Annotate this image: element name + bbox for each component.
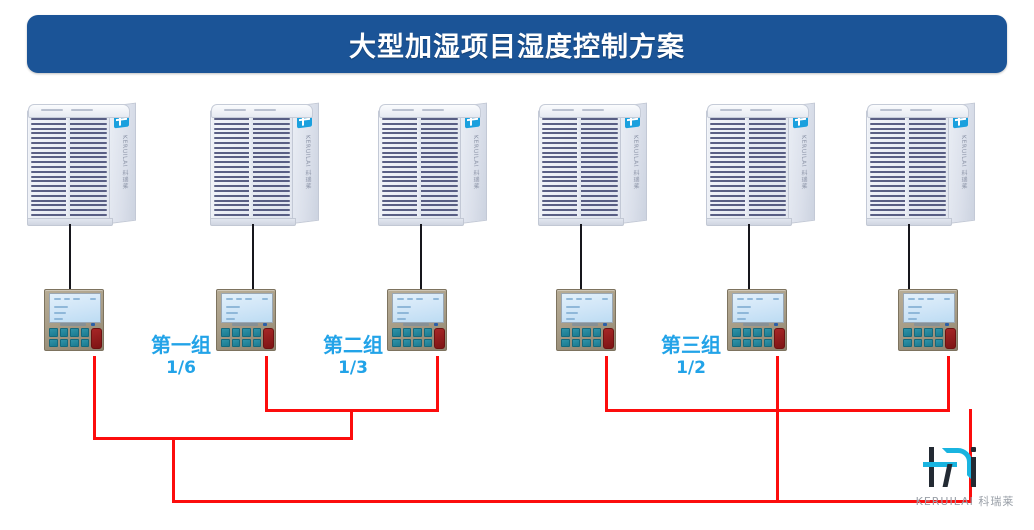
controller-key[interactable] xyxy=(242,339,251,348)
controller-key[interactable] xyxy=(753,339,762,348)
controller-lcd xyxy=(732,293,784,323)
controller-key[interactable] xyxy=(413,339,422,348)
unit-side-label: KERUILAI 科瑞莱 xyxy=(115,135,129,207)
power-button[interactable] xyxy=(603,328,614,349)
unit-link-cable xyxy=(69,224,71,289)
unit-link-cable xyxy=(252,224,254,289)
controller-key[interactable] xyxy=(924,328,933,337)
controller-key[interactable] xyxy=(914,339,923,348)
controller-key[interactable] xyxy=(764,339,773,348)
controller-key[interactable] xyxy=(593,328,602,337)
bus-drop-3 xyxy=(436,356,439,412)
group-label-1: 第一组 1/6 xyxy=(140,334,222,378)
controller-keypad[interactable] xyxy=(732,328,772,347)
unit-side-label: KERUILAI 科瑞莱 xyxy=(298,135,312,207)
power-button[interactable] xyxy=(263,328,274,349)
power-led-icon xyxy=(434,323,438,326)
controller-key[interactable] xyxy=(221,328,230,337)
group-name: 第二组 xyxy=(312,334,394,358)
controller-key[interactable] xyxy=(743,339,752,348)
controller-lcd xyxy=(903,293,955,323)
unit-top-cap xyxy=(707,104,809,118)
diagram-canvas: 大型加湿项目湿度控制方案 KERUILAI 科瑞莱KERUILAI 科瑞莱KER… xyxy=(0,0,1034,530)
power-led-icon xyxy=(774,323,778,326)
controller-lcd xyxy=(49,293,101,323)
bus-trunk-mid xyxy=(93,437,353,440)
unit-side-label: KERUILAI 科瑞莱 xyxy=(794,135,808,207)
unit-top-cap xyxy=(539,104,641,118)
unit-side-panel: KERUILAI 科瑞莱 xyxy=(292,103,319,224)
controller-key[interactable] xyxy=(935,328,944,337)
controller-key[interactable] xyxy=(242,328,251,337)
unit-link-cable xyxy=(748,224,750,289)
group-ratio: 1/6 xyxy=(140,358,222,378)
controller-key[interactable] xyxy=(221,339,230,348)
controller-key[interactable] xyxy=(924,339,933,348)
unit-top-cap xyxy=(379,104,481,118)
controller-brand-strip xyxy=(743,323,769,326)
controller-brand-strip xyxy=(914,323,940,326)
bus-drop-5 xyxy=(776,356,779,503)
power-led-icon xyxy=(91,323,95,326)
controller-key[interactable] xyxy=(253,339,262,348)
bus-trunk-bottom xyxy=(172,500,972,503)
unit-link-cable xyxy=(580,224,582,289)
unit-side-panel: KERUILAI 科瑞莱 xyxy=(620,103,647,224)
power-led-icon xyxy=(263,323,267,326)
controller-brand-strip xyxy=(572,323,598,326)
unit-side-panel: KERUILAI 科瑞莱 xyxy=(109,103,136,224)
humidity-controller[interactable] xyxy=(727,289,787,351)
controller-lcd xyxy=(561,293,613,323)
controller-key[interactable] xyxy=(424,339,433,348)
humidity-controller[interactable] xyxy=(556,289,616,351)
humidity-controller[interactable] xyxy=(44,289,104,351)
controller-key[interactable] xyxy=(572,339,581,348)
bus-riser-group2 xyxy=(350,409,353,440)
controller-key[interactable] xyxy=(935,339,944,348)
power-button[interactable] xyxy=(434,328,445,349)
power-button[interactable] xyxy=(774,328,785,349)
group-label-3: 第三组 1/2 xyxy=(650,334,732,378)
cooler-unit: KERUILAI 科瑞莱 xyxy=(706,104,814,228)
controller-lcd xyxy=(221,293,273,323)
cooler-unit: KERUILAI 科瑞莱 xyxy=(866,104,974,228)
controller-key[interactable] xyxy=(49,328,58,337)
controller-key[interactable] xyxy=(582,328,591,337)
humidity-controller[interactable] xyxy=(387,289,447,351)
controller-keypad[interactable] xyxy=(903,328,943,347)
power-button[interactable] xyxy=(91,328,102,349)
controller-keypad[interactable] xyxy=(221,328,261,347)
group-ratio: 1/3 xyxy=(312,358,394,378)
unit-side-panel: KERUILAI 科瑞莱 xyxy=(460,103,487,224)
cooler-unit: KERUILAI 科瑞莱 xyxy=(210,104,318,228)
group-name: 第三组 xyxy=(650,334,732,358)
unit-side-panel: KERUILAI 科瑞莱 xyxy=(788,103,815,224)
group-ratio: 1/2 xyxy=(650,358,732,378)
unit-side-label: KERUILAI 科瑞莱 xyxy=(466,135,480,207)
unit-side-label: KERUILAI 科瑞莱 xyxy=(626,135,640,207)
page-title: 大型加湿项目湿度控制方案 xyxy=(349,25,685,64)
bus-drop-4 xyxy=(605,356,608,412)
controller-key[interactable] xyxy=(81,339,90,348)
controller-key[interactable] xyxy=(743,328,752,337)
brand-logo: KERUILAI 科瑞莱 xyxy=(905,445,1025,515)
humidity-controller[interactable] xyxy=(898,289,958,351)
power-button[interactable] xyxy=(945,328,956,349)
controller-key[interactable] xyxy=(70,339,79,348)
controller-key[interactable] xyxy=(572,328,581,337)
unit-side-label: KERUILAI 科瑞莱 xyxy=(954,135,968,207)
bus-header-group3 xyxy=(605,409,950,412)
controller-key[interactable] xyxy=(903,339,912,348)
controller-brand-strip xyxy=(403,323,429,326)
controller-key[interactable] xyxy=(403,328,412,337)
controller-key[interactable] xyxy=(561,339,570,348)
controller-key[interactable] xyxy=(914,328,923,337)
bus-drop-2 xyxy=(265,356,268,412)
bus-drop-1 xyxy=(93,356,96,440)
controller-key[interactable] xyxy=(593,339,602,348)
controller-lcd xyxy=(392,293,444,323)
controller-key[interactable] xyxy=(732,339,741,348)
controller-keypad[interactable] xyxy=(49,328,89,347)
controller-key[interactable] xyxy=(413,328,422,337)
controller-key[interactable] xyxy=(732,328,741,337)
controller-key[interactable] xyxy=(232,339,241,348)
unit-top-cap xyxy=(867,104,969,118)
unit-link-cable xyxy=(420,224,422,289)
power-led-icon xyxy=(945,323,949,326)
group-label-2: 第二组 1/3 xyxy=(312,334,394,378)
controller-key[interactable] xyxy=(49,339,58,348)
ki-logomark-icon xyxy=(923,445,1009,489)
power-led-icon xyxy=(603,323,607,326)
controller-key[interactable] xyxy=(424,328,433,337)
brand-wordmark: KERUILAI 科瑞莱 xyxy=(905,493,1025,509)
unit-top-cap xyxy=(28,104,130,118)
controller-key[interactable] xyxy=(403,339,412,348)
controller-key[interactable] xyxy=(582,339,591,348)
controller-key[interactable] xyxy=(60,328,69,337)
group-name: 第一组 xyxy=(140,334,222,358)
controller-key[interactable] xyxy=(70,328,79,337)
cooler-unit: KERUILAI 科瑞莱 xyxy=(538,104,646,228)
controller-brand-strip xyxy=(232,323,258,326)
controller-key[interactable] xyxy=(903,328,912,337)
cooler-unit: KERUILAI 科瑞莱 xyxy=(378,104,486,228)
controller-keypad[interactable] xyxy=(392,328,432,347)
controller-key[interactable] xyxy=(232,328,241,337)
controller-brand-strip xyxy=(60,323,86,326)
bus-trunk-riser xyxy=(172,437,175,503)
controller-key[interactable] xyxy=(764,328,773,337)
controller-keypad[interactable] xyxy=(561,328,601,347)
controller-key[interactable] xyxy=(753,328,762,337)
controller-key[interactable] xyxy=(253,328,262,337)
unit-side-panel: KERUILAI 科瑞莱 xyxy=(948,103,975,224)
humidity-controller[interactable] xyxy=(216,289,276,351)
controller-key[interactable] xyxy=(561,328,570,337)
unit-link-cable xyxy=(908,224,910,289)
unit-top-cap xyxy=(211,104,313,118)
controller-key[interactable] xyxy=(81,328,90,337)
controller-key[interactable] xyxy=(60,339,69,348)
title-bar: 大型加湿项目湿度控制方案 xyxy=(27,15,1007,73)
cooler-unit: KERUILAI 科瑞莱 xyxy=(27,104,135,228)
bus-drop-6 xyxy=(947,356,950,412)
